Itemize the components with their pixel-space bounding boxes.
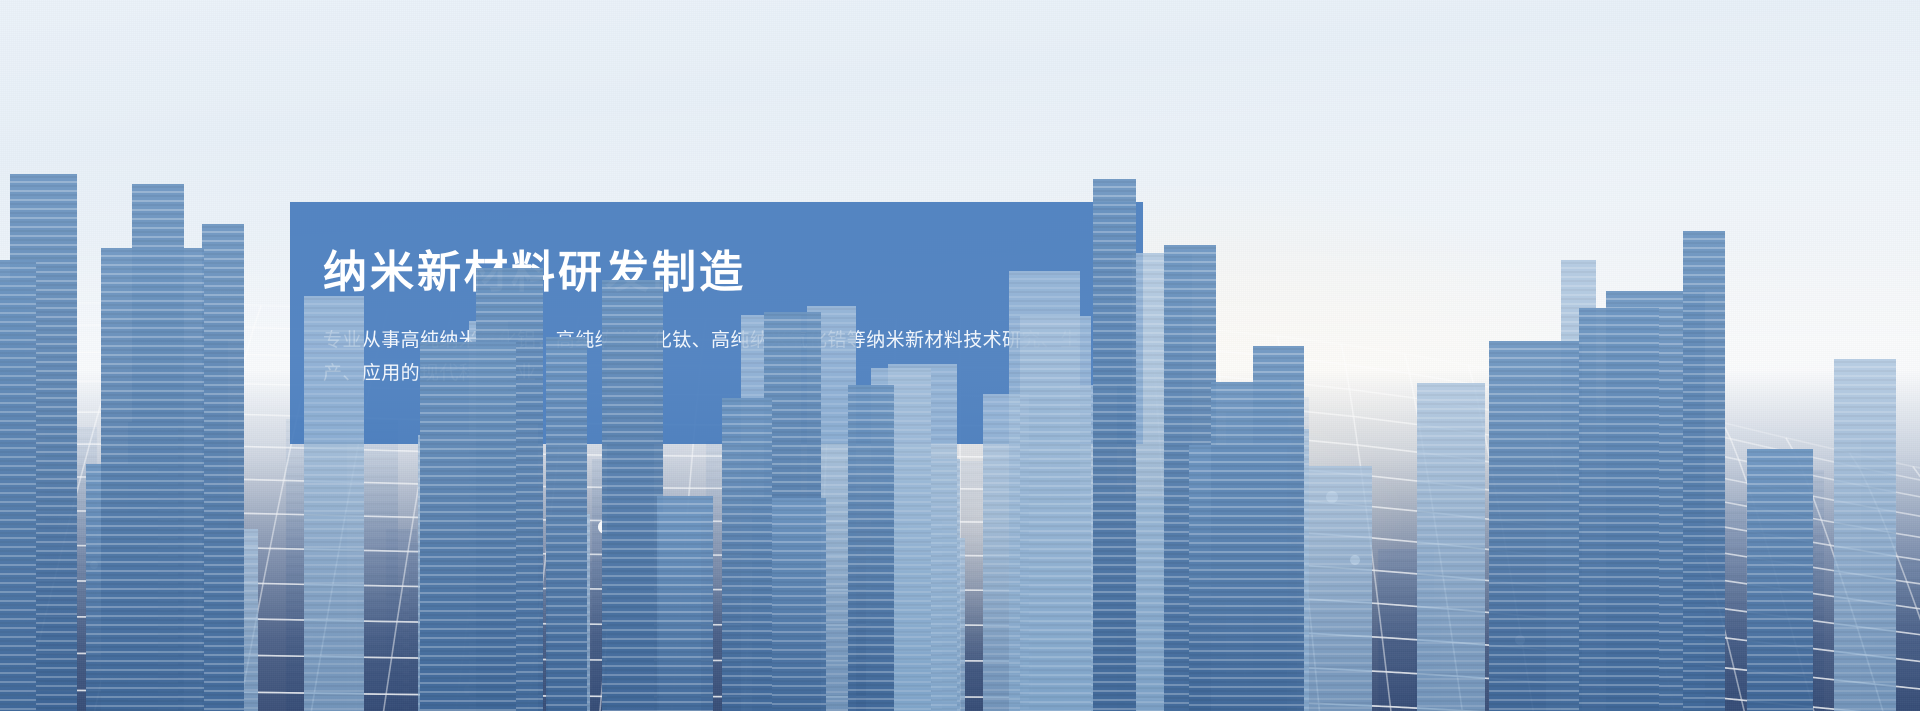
- hero-banner: 纳米新材料研发制造 专业从事高纯纳米氧化铝，高纯纳米氧化钛、高纯纳米氧化锆等纳米…: [0, 0, 1920, 711]
- page-title: 纳米新材料研发制造: [323, 248, 1099, 297]
